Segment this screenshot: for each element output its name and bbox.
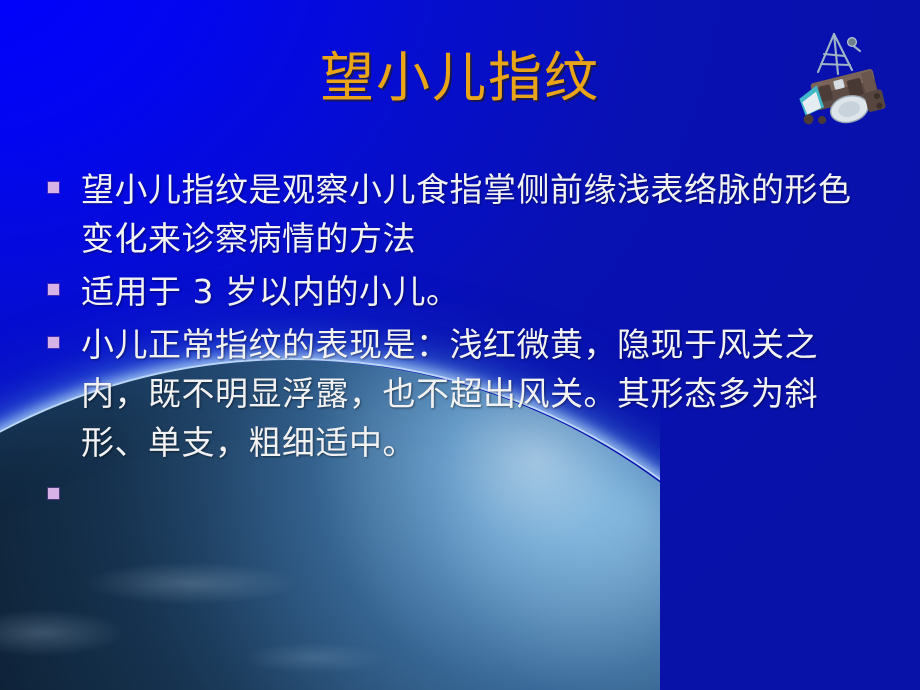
list-item-empty [48,471,878,509]
square-bullet-icon [48,182,59,193]
square-bullet-icon [48,337,59,348]
list-item-text: 望小儿指纹是观察小儿食指掌侧前缘浅表络脉的形色变化来诊察病情的方法 [81,165,878,263]
presentation-slide: 望小儿指纹 望小儿指纹是观察小儿食指掌侧前缘浅表络脉的形色变化来诊察病情的方法 … [0,0,920,690]
square-bullet-icon [48,488,59,499]
slide-body-content: 望小儿指纹是观察小儿食指掌侧前缘浅表络脉的形色变化来诊察病情的方法 适用于 3 … [48,165,878,513]
list-item: 小儿正常指纹的表现是：浅红微黄，隐现于风关之内，既不明显浮露，也不超出风关。其形… [48,320,878,467]
list-item-text: 小儿正常指纹的表现是：浅红微黄，隐现于风关之内，既不明显浮露，也不超出风关。其形… [81,320,878,467]
square-bullet-icon [48,284,59,295]
list-item: 适用于 3 岁以内的小儿。 [48,267,878,316]
list-item: 望小儿指纹是观察小儿食指掌侧前缘浅表络脉的形色变化来诊察病情的方法 [48,165,878,263]
list-item-text [81,471,878,509]
list-item-text: 适用于 3 岁以内的小儿。 [81,267,878,316]
page-title: 望小儿指纹 [0,48,920,107]
